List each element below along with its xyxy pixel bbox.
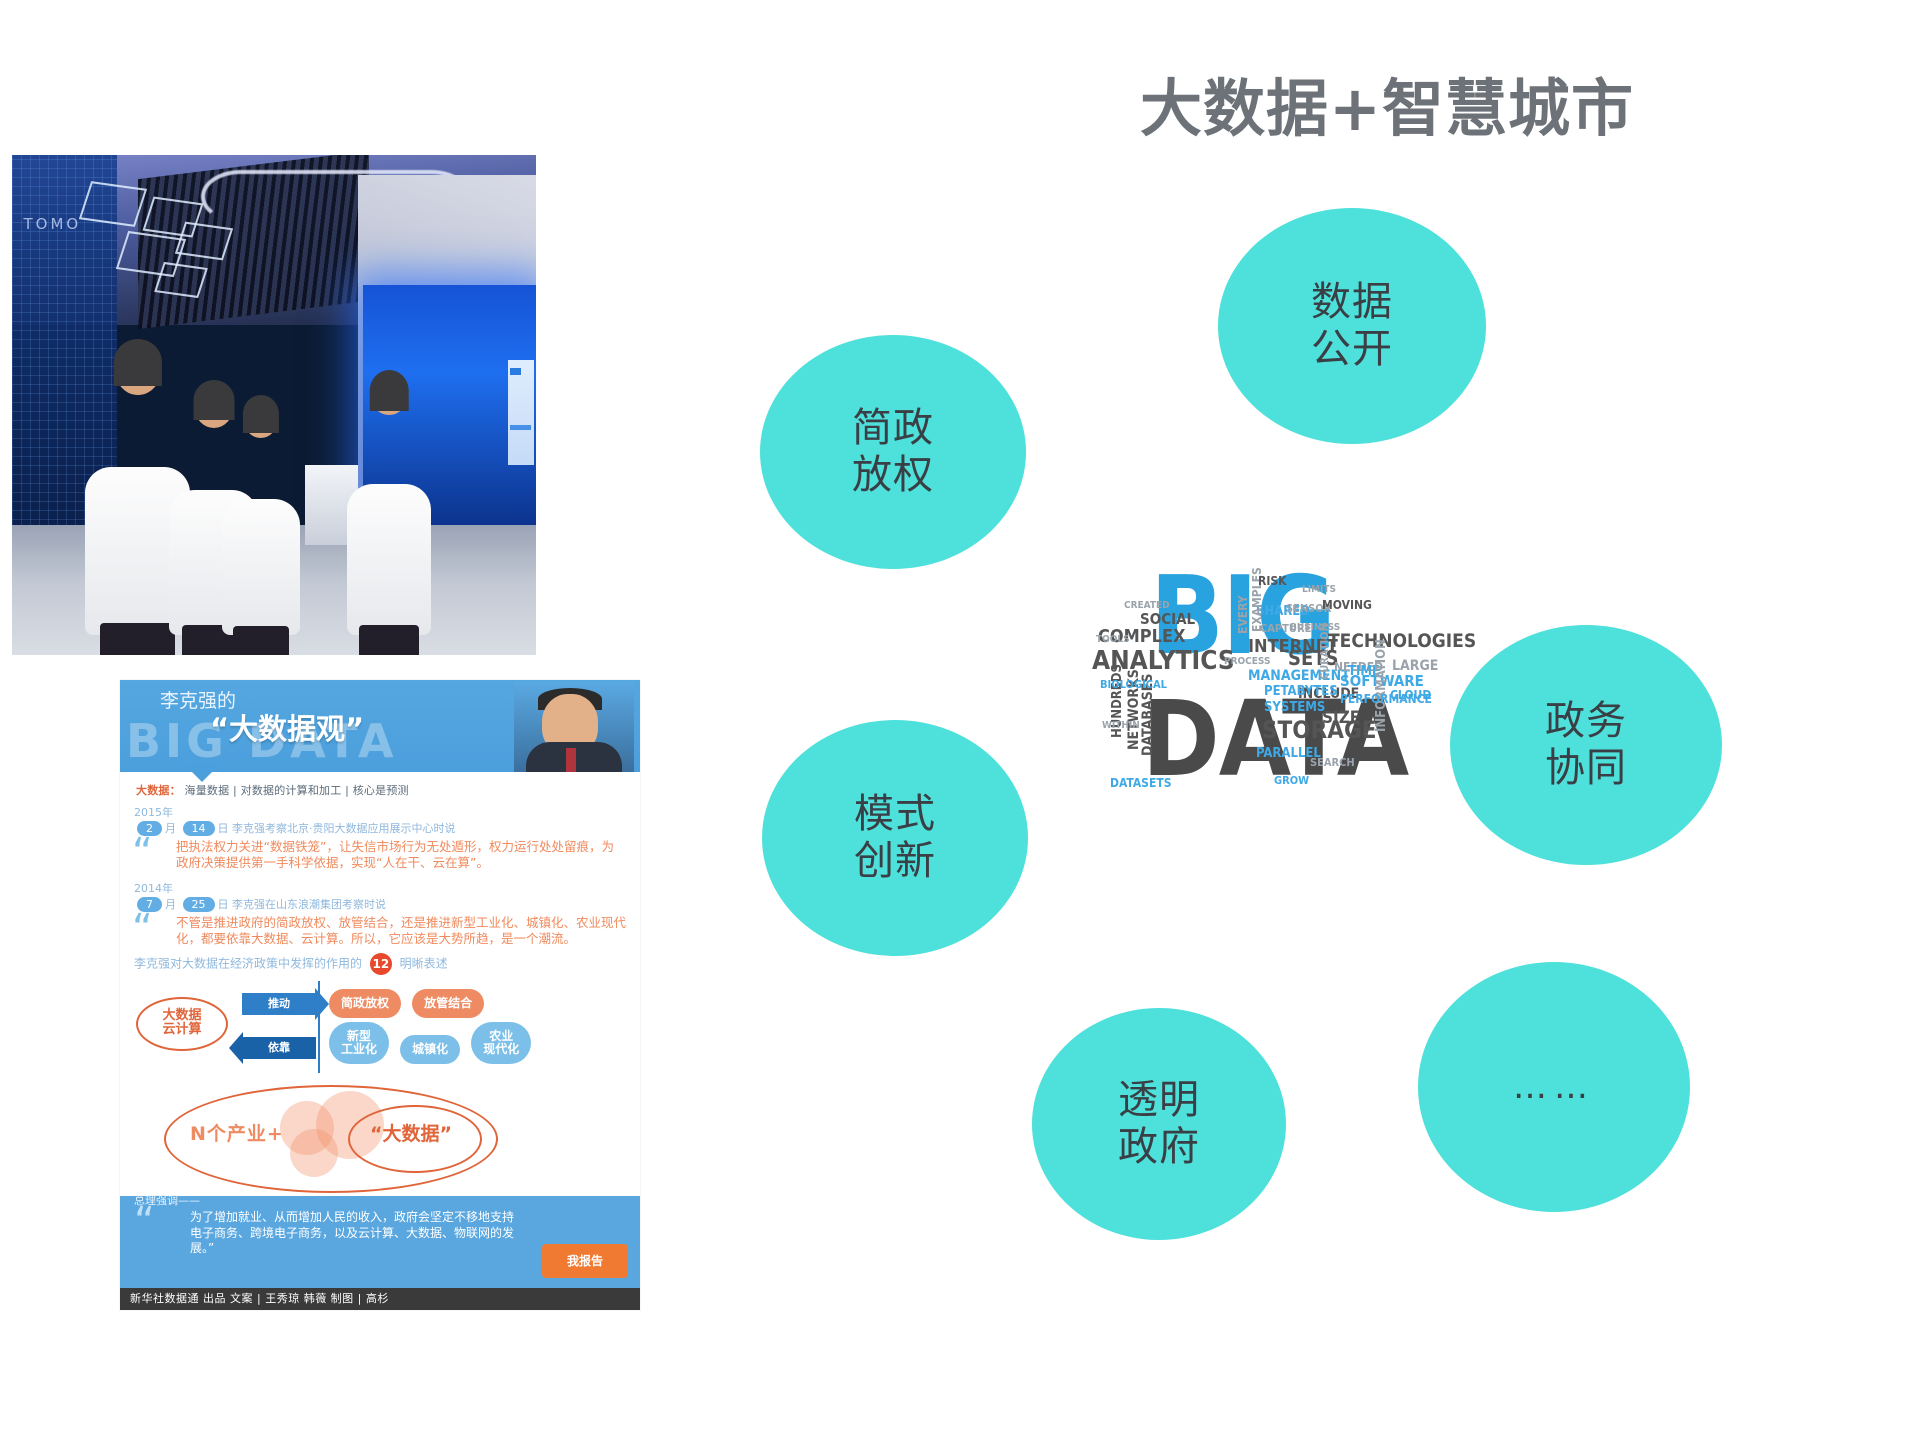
bubble-label: 数据公开 [1311, 279, 1393, 373]
word-cloud-word: PROCESS [1224, 656, 1270, 667]
entry-day: 14 [183, 821, 215, 836]
big-data-infographic: BIG DATA 李克强的 “大数据观” 大数据： 海量数据 | 对数据的计算和… [120, 680, 640, 1310]
entry-context: 李克强考察北京·贵阳大数据应用展示中心时说 [232, 822, 456, 835]
flow-core-node: 大数据云计算 [136, 997, 228, 1051]
word-cloud-word: GROW [1274, 774, 1309, 787]
entry-quote: “ 不管是推进政府的简政放权、放管结合，还是推进新型工业化、城镇化、农业现代化，… [176, 915, 626, 946]
bubble-label: 透明政府 [1118, 1077, 1200, 1171]
flow-tag-row: 简政放权 放管结合 新型工业化 城镇化 农业现代化 [326, 987, 636, 1067]
bubble-label: 简政放权 [852, 405, 934, 499]
entry-dateline: 2015年 2月 14日 李克强考察北京·贵阳大数据应用展示中心时说 [120, 800, 640, 836]
flow-tag-blue: 新型工业化 [329, 1022, 389, 1064]
photo-cube-icon [154, 262, 208, 298]
photo-person-hair [114, 339, 162, 385]
flow-tag-orange: 简政放权 [329, 989, 401, 1018]
venn-blob [290, 1129, 338, 1177]
photo-screen-ui [508, 360, 534, 465]
quote-mark-icon: “ [134, 1206, 155, 1238]
word-cloud-word: CREATED [1124, 600, 1170, 611]
role-line-badge: 12 [370, 953, 392, 975]
venn-right-text: “大数据” [370, 1119, 452, 1146]
venn-left-text: N个产业+ [190, 1119, 284, 1146]
word-cloud-word: CLOUD [1390, 688, 1431, 702]
photo-person-hair [243, 395, 279, 433]
slide-canvas: 大数据+智慧城市 TOMO [0, 0, 1920, 1440]
bubble-data-open[interactable]: 数据公开 [1218, 208, 1486, 444]
bubble-model-innovation[interactable]: 模式创新 [762, 720, 1028, 956]
word-cloud-word: TECHNOLOGIES [1328, 630, 1476, 652]
flow-tag-blue: 农业现代化 [471, 1022, 531, 1064]
page-title: 大数据+智慧城市 [1140, 58, 1634, 148]
word-cloud-word: RISK [1258, 574, 1286, 588]
infographic-notch [184, 764, 220, 782]
word-cloud-word: DATASETS [1110, 776, 1171, 790]
infographic-credit-bar: 新华社数据通 出品 文案 | 王秀琼 韩薇 制图 | 高杉 [120, 1288, 640, 1310]
entry-day: 25 [183, 897, 215, 912]
photo-person-trousers [359, 625, 419, 655]
word-cloud-word: TOOLS [1096, 634, 1130, 645]
infographic-header: BIG DATA 李克强的 “大数据观” [120, 680, 640, 772]
definition-label: 大数据： [136, 784, 181, 797]
big-data-word-cloud: BIG DATA ANALYTICS COMPLEX SOCIAL INTERN… [1090, 560, 1440, 810]
word-cloud-word: SIZE [1322, 708, 1360, 728]
infographic-footer: 总理强调—— “ 为了增加就业、从而增加人民的收入，政府会坚定不移地支持电子商务… [120, 1196, 640, 1288]
entry-dateline: 2014年 7月 25日 李克强在山东浪潮集团考察时说 [120, 876, 640, 912]
photo-person [222, 400, 301, 635]
entry-quote: “ 把执法权力关进“数据铁笼”，让失信市场行为无处遁形，权力运行处处留痕，为政府… [176, 839, 626, 870]
flow-diagram: 大数据云计算 推动 依靠 简政放权 放管结合 新型工业化 城镇化 农业现代化 [130, 981, 630, 1077]
photo-person-hair [370, 370, 409, 412]
photo-cube-icon [174, 222, 232, 261]
photo-person-trousers [100, 623, 175, 655]
bubble-label: 模式创新 [854, 791, 936, 885]
role-line-suffix: 明晰表述 [400, 956, 448, 970]
photo-tomo-text: TOMO [24, 215, 82, 233]
word-cloud-word: WITHIN [1102, 720, 1140, 731]
bubble-streamline-power[interactable]: 简政放权 [760, 335, 1026, 569]
word-cloud-word: BUSINESS [1290, 622, 1340, 633]
flow-arrow-forward: 推动 [242, 993, 316, 1015]
flow-arrow-back: 依靠 [242, 1037, 316, 1059]
photo-person [347, 375, 431, 635]
exhibition-photo: TOMO [12, 155, 536, 655]
entry-quote-text: 把执法权力关进“数据铁笼”，让失信市场行为无处遁形，权力运行处处留痕，为政府决策… [176, 839, 614, 870]
bubble-etcetera[interactable]: …… [1418, 962, 1690, 1212]
word-cloud-word: LIMITS [1302, 584, 1336, 595]
flow-divider [318, 981, 320, 1073]
word-cloud-word: MOVING [1322, 598, 1372, 612]
portrait-tie [566, 748, 576, 772]
bubble-gov-collaboration[interactable]: 政务协同 [1450, 625, 1722, 865]
infographic-portrait [514, 682, 634, 772]
word-cloud-word: BIOLOGICAL [1100, 678, 1167, 691]
word-cloud-word: LARGE [1392, 658, 1438, 674]
role-line-prefix: 李克强对大数据在经济政策中发挥的作用的 [134, 956, 362, 970]
quote-mark-icon: “ [132, 837, 153, 869]
entry-year: 2015年 [134, 806, 173, 819]
photo-person-shirt [347, 484, 431, 635]
word-cloud-word: INFORMATION [1374, 639, 1389, 732]
quote-mark-icon: “ [132, 913, 153, 945]
infographic-headline: “大数据观” [210, 706, 364, 748]
flow-tag-blue: 城镇化 [400, 1035, 460, 1064]
word-cloud-word: EVERY [1236, 595, 1250, 634]
footer-badge: 我报告 [542, 1244, 628, 1278]
entry-quote-text: 不管是推进政府的简政放权、放管结合，还是推进新型工业化、城镇化、农业现代化，都要… [176, 915, 626, 946]
venn-diagram: N个产业+ “大数据” [130, 1079, 630, 1199]
footer-quote: 为了增加就业、从而增加人民的收入，政府会坚定不移地支持电子商务、跨境电子商务，以… [190, 1210, 520, 1257]
ellipsis-icon: …… [1513, 1067, 1595, 1107]
entry-context: 李克强在山东浪潮集团考察时说 [232, 898, 386, 911]
definition-value: 海量数据 | 对数据的计算和加工 | 核心是预测 [185, 784, 409, 797]
entry-year: 2014年 [134, 882, 173, 895]
word-cloud-word: SOCIAL [1140, 610, 1195, 628]
photo-person-trousers [233, 626, 290, 655]
word-cloud-word: PETABYTES [1264, 684, 1338, 699]
role-line: 李克强对大数据在经济政策中发挥的作用的 12 明晰表述 [134, 953, 626, 975]
bubble-transparent-government[interactable]: 透明政府 [1032, 1008, 1286, 1240]
bubble-label: 政务协同 [1545, 698, 1627, 792]
word-cloud-word: SYSTEMS [1264, 700, 1325, 715]
flow-tag-orange: 放管结合 [412, 989, 484, 1018]
word-cloud-word: SEARCH [1310, 756, 1355, 769]
photo-person-shirt [222, 499, 301, 635]
